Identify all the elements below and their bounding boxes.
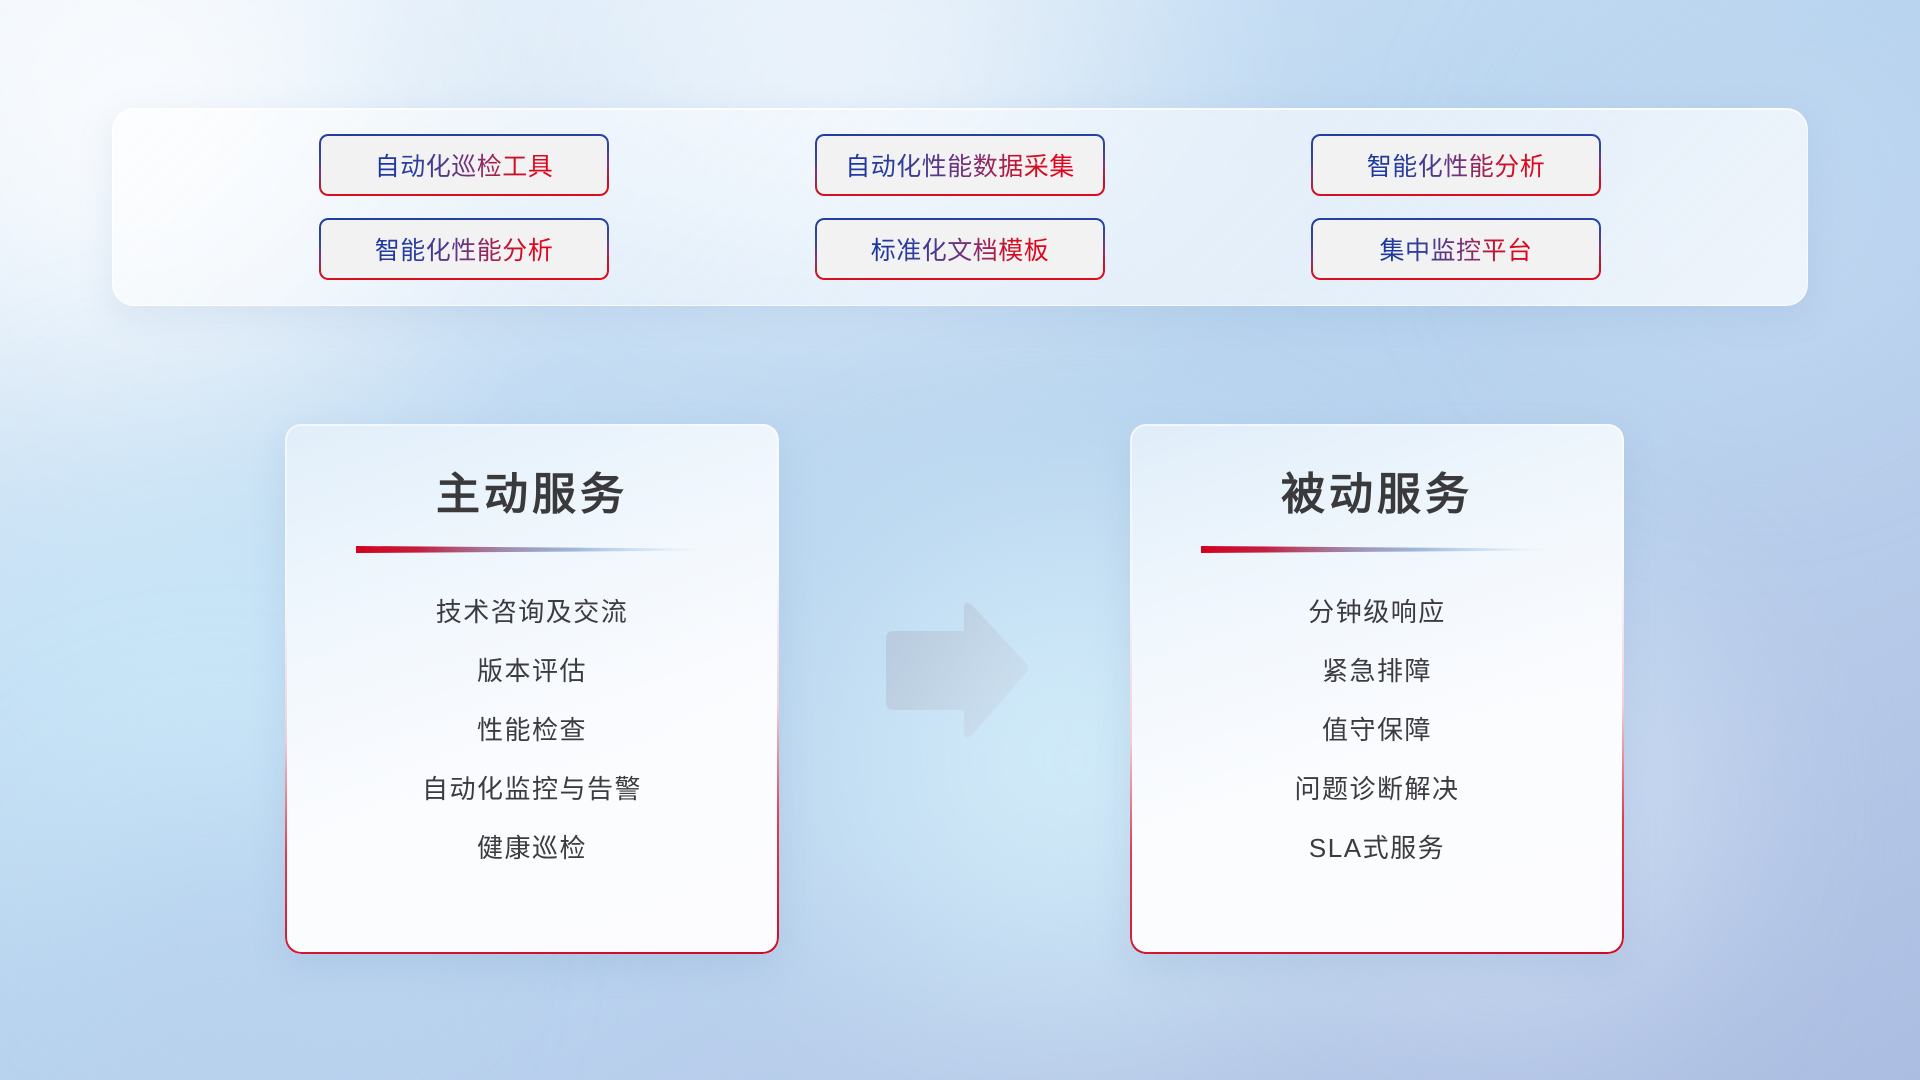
capability-button-label: 智能化性能分析: [375, 231, 554, 267]
capability-button-label: 自动化巡检工具: [375, 147, 554, 183]
list-item[interactable]: 值守保障: [1154, 701, 1600, 760]
capability-button-intelligent-performance-analysis-1[interactable]: 智能化性能分析: [1311, 134, 1601, 196]
service-card-reactive: 被动服务 分钟级响应 紧急排障 值守保障 问题诊断解决 SLA式服务: [1130, 424, 1624, 954]
list-item[interactable]: 自动化监控与告警: [309, 760, 755, 819]
list-item[interactable]: 健康巡检: [309, 819, 755, 878]
card-title: 主动服务: [285, 458, 779, 522]
capability-button-standardized-document-template[interactable]: 标准化文档模板: [815, 218, 1105, 280]
card-item-list: 分钟级响应 紧急排障 值守保障 问题诊断解决 SLA式服务: [1130, 583, 1624, 878]
capability-button-centralized-monitoring-platform[interactable]: 集中监控平台: [1311, 218, 1601, 280]
right-arrow-icon: [878, 598, 1030, 744]
capability-panel: 自动化巡检工具 自动化性能数据采集 智能化性能分析 智能化性能分析 标准化文档模…: [112, 108, 1808, 306]
list-item[interactable]: 技术咨询及交流: [309, 583, 755, 642]
capability-button-label: 智能化性能分析: [1367, 147, 1546, 183]
capability-button-grid: 自动化巡检工具 自动化性能数据采集 智能化性能分析 智能化性能分析 标准化文档模…: [113, 109, 1807, 305]
list-item[interactable]: 性能检查: [309, 701, 755, 760]
list-item[interactable]: 问题诊断解决: [1154, 760, 1600, 819]
capability-button-intelligent-performance-analysis-2[interactable]: 智能化性能分析: [319, 218, 609, 280]
card-title: 被动服务: [1130, 458, 1624, 522]
list-item[interactable]: 分钟级响应: [1154, 583, 1600, 642]
capability-button-automated-inspection-tool[interactable]: 自动化巡检工具: [319, 134, 609, 196]
capability-button-label: 标准化文档模板: [871, 231, 1050, 267]
capability-button-label: 自动化性能数据采集: [845, 147, 1075, 183]
list-item[interactable]: SLA式服务: [1154, 819, 1600, 878]
card-divider: [356, 546, 708, 553]
card-divider: [1201, 546, 1553, 553]
capability-button-label: 集中监控平台: [1379, 231, 1532, 267]
service-card-proactive: 主动服务 技术咨询及交流 版本评估 性能检查 自动化监控与告警 健康巡检: [285, 424, 779, 954]
list-item[interactable]: 紧急排障: [1154, 642, 1600, 701]
list-item[interactable]: 版本评估: [309, 642, 755, 701]
card-item-list: 技术咨询及交流 版本评估 性能检查 自动化监控与告警 健康巡检: [285, 583, 779, 878]
capability-button-automated-performance-data-collection[interactable]: 自动化性能数据采集: [815, 134, 1105, 196]
